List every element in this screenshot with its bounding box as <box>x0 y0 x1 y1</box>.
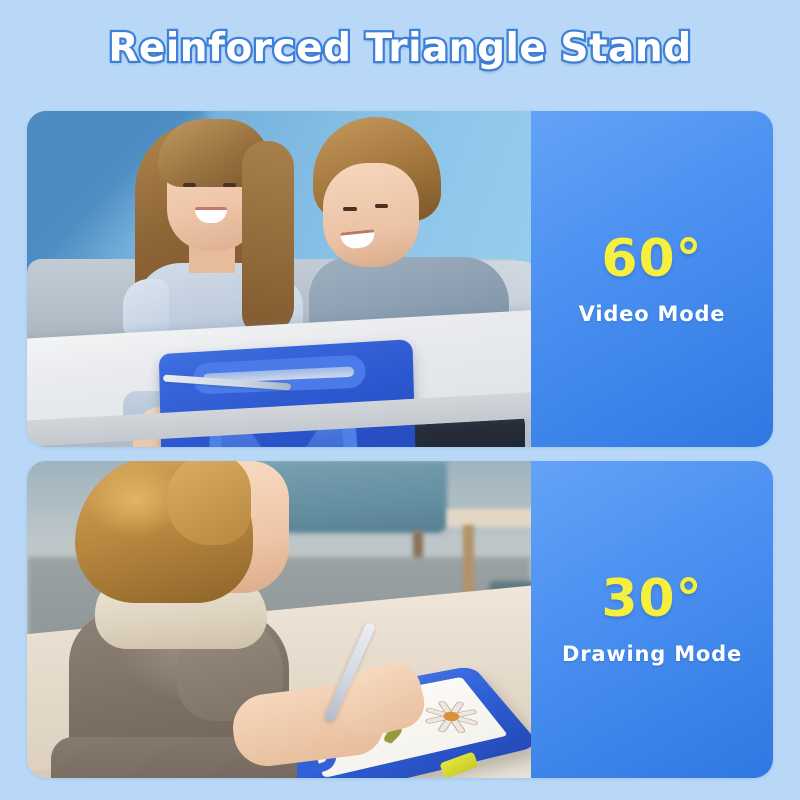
angle-value-60: 60° <box>601 233 702 285</box>
photo-video-mode <box>27 111 531 447</box>
angle-value-30: 30° <box>601 573 702 625</box>
info-block-drawing-mode: 30° Drawing Mode <box>531 461 773 778</box>
boy-eye-left <box>343 207 357 211</box>
boy-face <box>323 163 419 267</box>
product-feature-image: Reinforced Triangle Stand <box>0 0 800 800</box>
mode-label-drawing: Drawing Mode <box>562 642 742 666</box>
girl-eye-right <box>223 183 236 187</box>
girl2-hair-front <box>167 461 251 545</box>
girl-eye-left <box>183 183 196 187</box>
drawing-flower <box>414 695 492 741</box>
boy-eye-right <box>375 204 388 208</box>
page-title-text: Reinforced Triangle Stand <box>108 26 691 71</box>
feature-panel-video-mode: 60° Video Mode <box>27 111 773 447</box>
girl-hair-side <box>242 141 294 336</box>
side-table <box>447 509 531 527</box>
mode-label-video: Video Mode <box>579 302 726 326</box>
info-block-video-mode: 60° Video Mode <box>531 111 773 447</box>
feature-panel-drawing-mode: 30° Drawing Mode <box>27 461 773 778</box>
page-title: Reinforced Triangle Stand <box>0 26 800 88</box>
photo-drawing-mode <box>27 461 531 778</box>
